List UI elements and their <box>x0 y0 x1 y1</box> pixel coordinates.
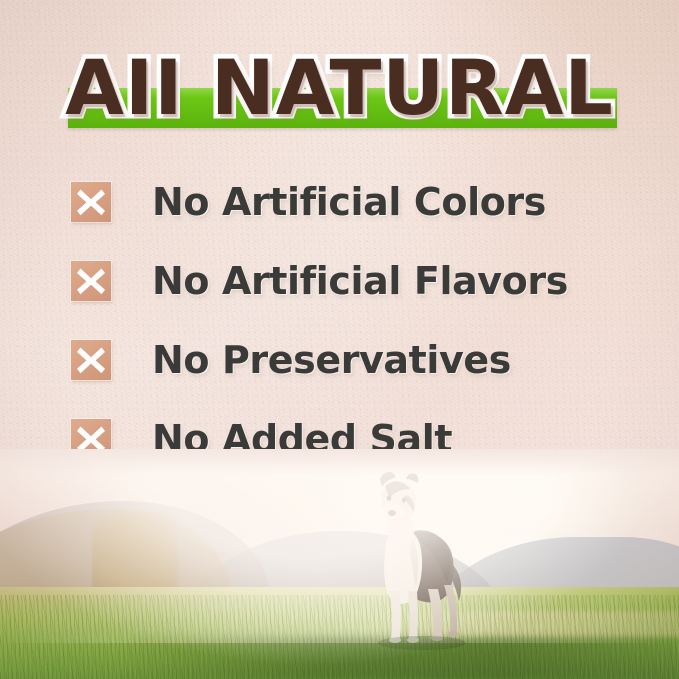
landscape-photo <box>0 449 679 679</box>
x-mark-icon <box>71 340 111 380</box>
list-item: No Artificial Flavors <box>0 241 679 320</box>
headline-banner: AII NATURAL <box>0 46 679 136</box>
page-title: AII NATURAL <box>0 46 679 130</box>
list-item-label: No Artificial Colors <box>152 182 546 222</box>
list-item-label: No Preservatives <box>152 340 511 380</box>
all-natural-poster: AII NATURAL No Artificial Colors No Arti… <box>0 0 679 679</box>
list-item-label: No Artificial Flavors <box>152 261 568 301</box>
x-mark-icon <box>71 182 111 222</box>
list-item: No Artificial Colors <box>0 162 679 241</box>
border-collie-dog <box>356 469 476 659</box>
x-mark-icon <box>71 261 111 301</box>
list-item: No Preservatives <box>0 320 679 399</box>
claims-list: No Artificial Colors No Artificial Flavo… <box>0 162 679 478</box>
